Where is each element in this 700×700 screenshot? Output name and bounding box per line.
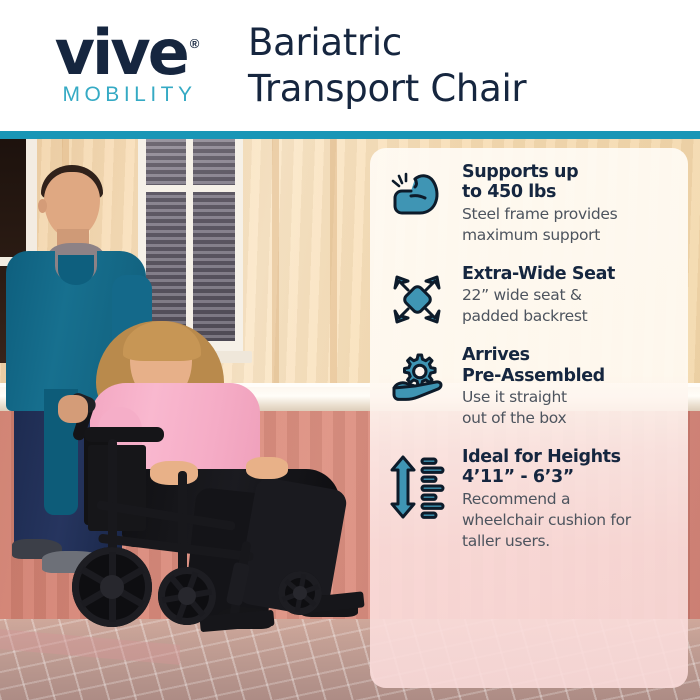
teal-divider bbox=[0, 131, 700, 139]
caregiver-hand bbox=[58, 395, 88, 423]
feature-sub-line-1: Use it straight bbox=[462, 388, 674, 407]
feature-sub-line-1: 22” wide seat & bbox=[462, 286, 674, 305]
page-title: Bariatric Transport Chair bbox=[232, 20, 526, 110]
wheelchair-rear-wheel bbox=[72, 547, 152, 627]
feature-heading-line-2: Pre-Assembled bbox=[462, 366, 674, 386]
woman-hand-near bbox=[150, 461, 198, 485]
feature-sub-line-3: taller users. bbox=[462, 532, 674, 551]
brand-logo-wordmark: vive ® bbox=[55, 24, 200, 81]
feature-text: Supports up to 450 lbs Steel frame provi… bbox=[462, 160, 674, 245]
wheelchair-front-wheel bbox=[158, 567, 216, 625]
feature-heading-line-2: to 450 lbs bbox=[462, 182, 674, 202]
feature-item: Ideal for Heights 4’11” - 6’3” Recommend… bbox=[386, 445, 674, 551]
feature-text: Ideal for Heights 4’11” - 6’3” Recommend… bbox=[462, 445, 674, 551]
wheelchair-side-panel bbox=[88, 445, 146, 531]
feature-heading-line-1: Arrives bbox=[462, 345, 674, 365]
feature-item: Extra-Wide Seat 22” wide seat & padded b… bbox=[386, 262, 674, 326]
expand-arrows-diamond-icon bbox=[386, 262, 448, 326]
product-infographic: vive ® MOBILITY Bariatric Transport Chai… bbox=[0, 0, 700, 700]
gear-in-hand-icon bbox=[386, 343, 448, 405]
registered-trademark-icon: ® bbox=[190, 36, 200, 51]
header-bar: vive ® MOBILITY Bariatric Transport Chai… bbox=[0, 0, 700, 131]
wall-pillar-line bbox=[330, 139, 337, 401]
feature-panel: Supports up to 450 lbs Steel frame provi… bbox=[370, 148, 688, 688]
page-title-line-2: Transport Chair bbox=[248, 66, 526, 111]
wheelchair-caster-wheel bbox=[278, 571, 322, 615]
feature-text: Arrives Pre-Assembled Use it straight ou… bbox=[462, 343, 674, 428]
flexing-bicep-icon bbox=[386, 160, 448, 222]
feature-heading-line-1: Supports up bbox=[462, 162, 674, 182]
feature-heading-line-1: Extra-Wide Seat bbox=[462, 264, 674, 284]
page-title-line-1: Bariatric bbox=[248, 20, 526, 65]
feature-heading-line-2: 4’11” - 6’3” bbox=[462, 467, 674, 487]
wheelchair-frame-post bbox=[178, 471, 187, 581]
feature-text: Extra-Wide Seat 22” wide seat & padded b… bbox=[462, 262, 674, 326]
woman-hand-far bbox=[246, 457, 288, 479]
feature-sub-line-1: Steel frame provides bbox=[462, 205, 674, 224]
brand-logo: vive ® MOBILITY bbox=[0, 24, 232, 106]
window-mullion-horizontal bbox=[138, 185, 243, 192]
feature-item: Arrives Pre-Assembled Use it straight ou… bbox=[386, 343, 674, 428]
feature-sub-line-2: out of the box bbox=[462, 409, 674, 428]
caregiver-ear bbox=[38, 199, 47, 213]
caregiver-collar-inner bbox=[58, 255, 94, 285]
feature-heading-line-1: Ideal for Heights bbox=[462, 447, 674, 467]
height-ruler-arrow-icon bbox=[386, 445, 448, 519]
feature-sub-line-2: padded backrest bbox=[462, 307, 674, 326]
wall-pillar-line bbox=[272, 139, 279, 401]
brand-name: vive bbox=[55, 24, 187, 81]
feature-sub-line-2: maximum support bbox=[462, 226, 674, 245]
window-mullion-vertical bbox=[186, 139, 193, 343]
feature-sub-line-1: Recommend a bbox=[462, 490, 674, 509]
wheelchair-armrest bbox=[84, 427, 164, 442]
feature-item: Supports up to 450 lbs Steel frame provi… bbox=[386, 160, 674, 245]
feature-sub-line-2: wheelchair cushion for bbox=[462, 511, 674, 530]
